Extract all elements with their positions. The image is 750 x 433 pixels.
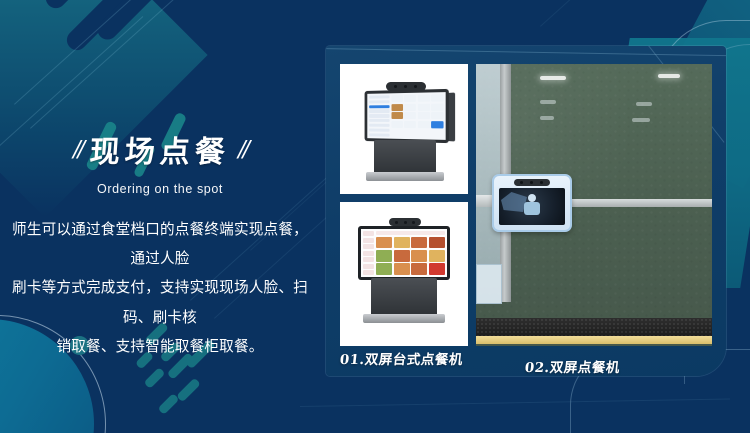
product-photo-wall-mounted[interactable] xyxy=(476,64,712,346)
product-photo-desktop-pos[interactable] xyxy=(340,64,468,194)
top-left-bar-decoration-3 xyxy=(42,0,99,12)
ceiling-light-6 xyxy=(632,118,650,122)
description-line-1: 师生可以通过食堂档口的点餐终端实现点餐，通过人脸 xyxy=(6,216,314,274)
floor-mat xyxy=(476,318,712,336)
menu-main xyxy=(376,231,445,275)
dash-decoration-4 xyxy=(144,367,166,389)
hairline-2 xyxy=(30,0,202,129)
left-text-column: // 现场点餐 // Ordering on the spot 师生可以通过食堂… xyxy=(0,126,320,362)
kiosk-body xyxy=(371,278,437,316)
gallery-caption-1: 01.双屏台式点餐机 xyxy=(339,348,464,368)
heading-slash-right: // xyxy=(238,134,247,165)
device-screen xyxy=(499,188,565,225)
card-hairline-2 xyxy=(326,48,726,56)
wall-mounted-ordering-device[interactable] xyxy=(492,174,572,232)
screen-figure-icon xyxy=(519,193,545,219)
figure-body xyxy=(524,202,540,215)
pos-ui xyxy=(367,92,445,140)
menu-category-list xyxy=(363,231,374,275)
description-line-3: 销取餐、支持智能取餐柜取餐。 xyxy=(6,333,314,362)
dish-grid xyxy=(376,237,445,276)
gallery-card xyxy=(326,46,726,376)
menu-ui xyxy=(361,229,447,277)
pos-ui-sidebar xyxy=(369,95,389,136)
kiosk-illustration xyxy=(351,218,457,330)
page-title: 现场点餐 xyxy=(88,127,231,171)
hairline-7 xyxy=(540,0,674,27)
camera-module-icon xyxy=(389,218,421,226)
ceiling-light-5 xyxy=(540,116,554,120)
section-subtitle: Ordering on the spot xyxy=(0,182,320,196)
slide-root: // 现场点餐 // Ordering on the spot 师生可以通过食堂… xyxy=(0,0,750,433)
description-line-2: 刷卡等方式完成支付，支持实现现场人脸、扫码、刷卡核 xyxy=(6,274,314,332)
ceiling-light-2 xyxy=(658,74,680,78)
pos-base xyxy=(366,172,444,181)
kiosk-base xyxy=(363,314,445,323)
dash-decoration-5 xyxy=(176,378,201,403)
primary-display xyxy=(365,88,449,142)
figure-head xyxy=(528,194,536,202)
dash-decoration-6 xyxy=(158,393,180,415)
menu-header xyxy=(376,231,445,235)
ceiling-light-3 xyxy=(540,100,556,104)
hairline-1 xyxy=(14,0,200,105)
ceiling-light-1 xyxy=(540,76,566,80)
pos-body xyxy=(374,140,436,174)
desktop-pos-illustration xyxy=(352,80,456,184)
glass-panel-lower xyxy=(476,264,502,304)
kiosk-display xyxy=(358,226,450,280)
gallery-caption-2: 02.双屏点餐机 xyxy=(524,356,621,376)
ceiling-light-4 xyxy=(636,102,652,106)
product-photo-kiosk[interactable] xyxy=(340,202,468,346)
camera-module-icon xyxy=(514,179,550,186)
heading-slash-left: // xyxy=(73,134,82,165)
pos-ui-grid xyxy=(391,94,443,138)
floor-yellow-strip xyxy=(476,336,712,344)
hairline-8 xyxy=(300,398,730,407)
section-heading: // 现场点餐 // xyxy=(0,126,320,172)
description-text: 师生可以通过食堂档口的点餐终端实现点餐，通过人脸 刷卡等方式完成支付，支持实现现… xyxy=(0,216,320,362)
